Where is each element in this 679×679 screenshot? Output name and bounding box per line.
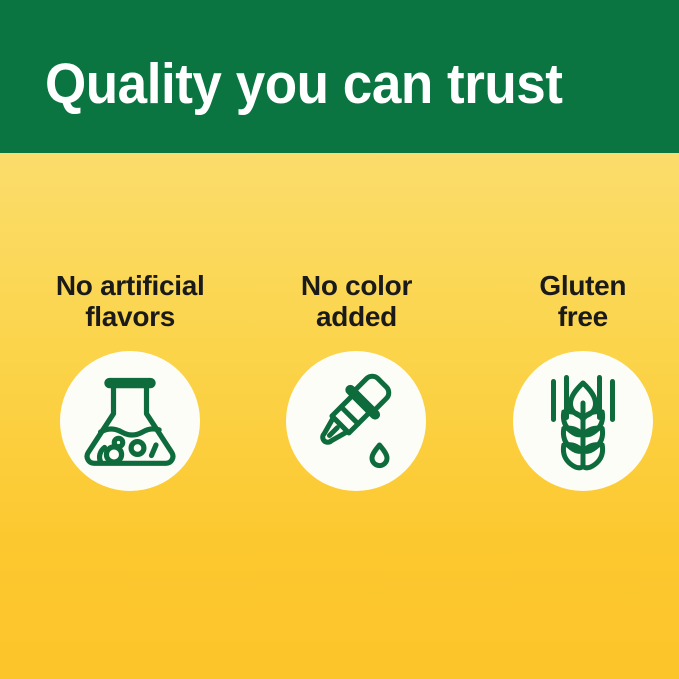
feature-label: Gluten free (539, 270, 626, 332)
feature-list: No artificial flavors (0, 270, 679, 491)
feature-label: No color added (301, 270, 412, 332)
dropper-icon (304, 369, 408, 473)
feature-item-gluten-free: Gluten free (487, 270, 679, 491)
icon-disc (60, 351, 200, 491)
feature-label: No artificial flavors (56, 270, 205, 332)
icon-disc (286, 351, 426, 491)
flask-icon (78, 369, 182, 473)
wheat-icon (531, 369, 635, 473)
icon-disc (513, 351, 653, 491)
page-title: Quality you can trust (45, 50, 603, 120)
feature-item-no-color-added: No color added (260, 270, 452, 491)
feature-item-no-artificial-flavors: No artificial flavors (34, 270, 226, 491)
header-band: Quality you can trust (0, 0, 679, 153)
quality-banner: Quality you can trust No artificial flav… (0, 0, 679, 679)
